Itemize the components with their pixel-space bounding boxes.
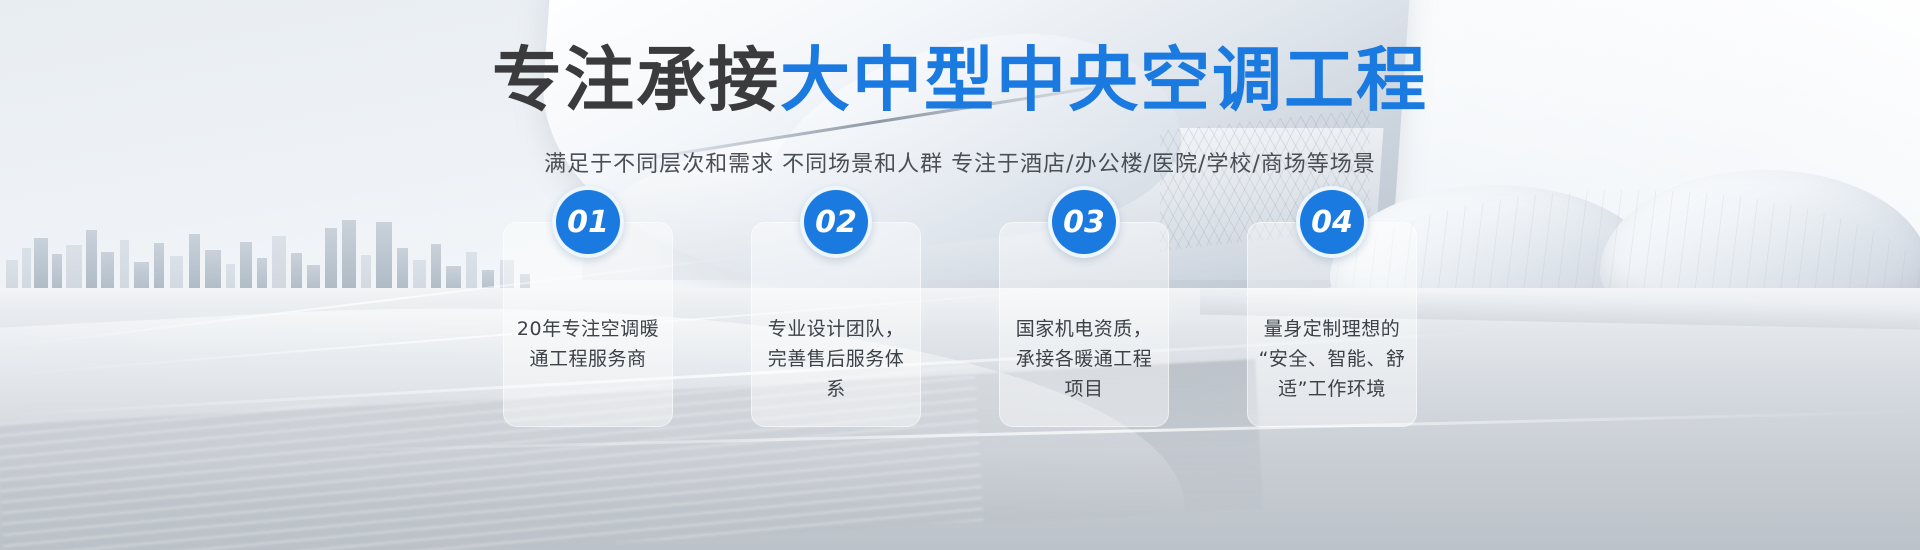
card-description: 20年专注空调暖通工程服务商 xyxy=(513,314,663,374)
headline-dark-text: 专注承接 xyxy=(492,39,780,121)
card-number-badge: 03 xyxy=(1048,186,1120,258)
feature-card[interactable]: 01 20年专注空调暖通工程服务商 xyxy=(503,222,673,427)
card-description: 国家机电资质，承接各暖通工程项目 xyxy=(1009,314,1159,404)
headline-accent-text: 大中型中央空调工程 xyxy=(780,39,1428,121)
banner-subtitle: 满足于不同层次和需求 不同场景和人群 专注于酒店/办公楼/医院/学校/商场等场景 xyxy=(0,150,1920,180)
feature-card-list: 01 20年专注空调暖通工程服务商 02 专业设计团队，完善售后服务体系 03 … xyxy=(0,222,1920,432)
card-description: 专业设计团队，完善售后服务体系 xyxy=(761,314,911,404)
feature-card[interactable]: 02 专业设计团队，完善售后服务体系 xyxy=(751,222,921,427)
feature-card[interactable]: 03 国家机电资质，承接各暖通工程项目 xyxy=(999,222,1169,427)
card-number-badge: 01 xyxy=(552,186,624,258)
card-number-badge: 02 xyxy=(800,186,872,258)
feature-card[interactable]: 04 量身定制理想的“安全、智能、舒适”工作环境 xyxy=(1247,222,1417,427)
card-description: 量身定制理想的“安全、智能、舒适”工作环境 xyxy=(1257,314,1407,404)
card-number-badge: 04 xyxy=(1296,186,1368,258)
promo-banner: 专注承接大中型中央空调工程 满足于不同层次和需求 不同场景和人群 专注于酒店/办… xyxy=(0,0,1920,550)
banner-headline: 专注承接大中型中央空调工程 xyxy=(0,44,1920,116)
